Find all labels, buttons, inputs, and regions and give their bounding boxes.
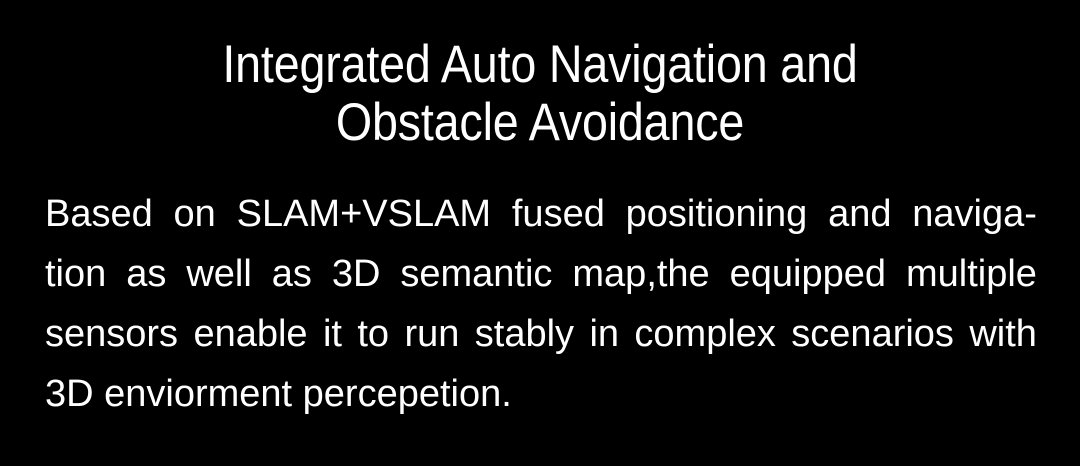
body-word: equipped (730, 244, 886, 304)
body-line-4: 3D enviorment percepetion. (45, 364, 1037, 424)
body-word: scenarios (791, 304, 954, 364)
body-word: on (174, 184, 216, 244)
body-word: naviga- (912, 184, 1037, 244)
body-word: fused (512, 184, 605, 244)
body-line-3: sensorsenableittorunstablyincomplexscena… (45, 304, 1037, 364)
slide-title: Integrated Auto Navigation and Obstacle … (0, 36, 1080, 152)
title-line-1: Integrated Auto Navigation and (65, 36, 1015, 94)
title-line-2: Obstacle Avoidance (65, 94, 1015, 152)
body-word: SLAM+VSLAM (237, 184, 492, 244)
body-word: 3D (332, 244, 381, 304)
body-word: sensors (45, 304, 178, 364)
body-word: map,the (572, 244, 709, 304)
body-word: stably (475, 304, 574, 364)
body-word: and (828, 184, 891, 244)
body-word: well (186, 244, 251, 304)
body-word: positioning (626, 184, 808, 244)
body-word: with (969, 304, 1037, 364)
body-word: multiple (906, 244, 1037, 304)
slide-body: BasedonSLAM+VSLAMfusedpositioningandnavi… (45, 184, 1037, 424)
body-word: semantic (400, 244, 552, 304)
body-line-1: BasedonSLAM+VSLAMfusedpositioningandnavi… (45, 184, 1037, 244)
body-word: in (589, 304, 619, 364)
body-word: complex (634, 304, 776, 364)
body-word: to (357, 304, 389, 364)
body-word: Based (45, 184, 153, 244)
slide-root: Integrated Auto Navigation and Obstacle … (0, 0, 1080, 466)
body-line-2: tionaswellas3Dsemanticmap,theequippedmul… (45, 244, 1037, 304)
body-word: it (323, 304, 342, 364)
body-word: as (126, 244, 166, 304)
body-word: as (272, 244, 312, 304)
body-word: run (404, 304, 459, 364)
body-word: enable (193, 304, 307, 364)
body-word: tion (45, 244, 106, 304)
